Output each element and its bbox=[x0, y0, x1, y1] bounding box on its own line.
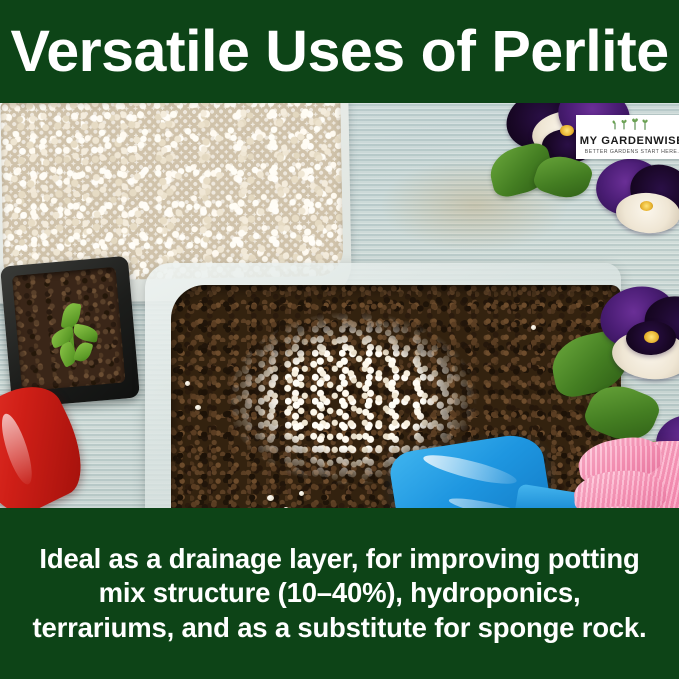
pink-glove bbox=[572, 433, 679, 508]
perlite-infographic: Versatile Uses of Perlite bbox=[0, 0, 679, 679]
pansy-center bbox=[560, 125, 574, 136]
perlite-speck bbox=[185, 381, 190, 386]
pansy-center bbox=[640, 201, 653, 211]
pansy-flower bbox=[596, 159, 679, 269]
logo-name: MY GARDENWISE bbox=[580, 136, 679, 148]
perlite-speck bbox=[267, 495, 274, 501]
sprout-leaf bbox=[73, 340, 93, 364]
perlite-speck bbox=[299, 491, 304, 496]
seedling-sprouts-icon bbox=[611, 117, 653, 135]
pansy-flower bbox=[582, 291, 679, 441]
sprout-leaf bbox=[72, 323, 99, 342]
brand-logo[interactable]: MY GARDENWISE BETTER GARDENS START HERE. bbox=[576, 115, 679, 159]
perlite-speck bbox=[195, 405, 201, 410]
photo-area bbox=[0, 103, 679, 508]
perlite-speck bbox=[531, 325, 536, 330]
description-text: Ideal as a drainage layer, for improving… bbox=[30, 542, 650, 646]
page-title: Versatile Uses of Perlite bbox=[10, 23, 668, 81]
bottom-band: Ideal as a drainage layer, for improving… bbox=[0, 508, 679, 679]
logo-tagline: BETTER GARDENS START HERE. bbox=[585, 150, 679, 155]
seedling-sprout bbox=[46, 300, 107, 367]
pansy-center bbox=[644, 331, 659, 343]
header-band: Versatile Uses of Perlite bbox=[0, 0, 679, 103]
perlite-granules bbox=[0, 103, 343, 282]
